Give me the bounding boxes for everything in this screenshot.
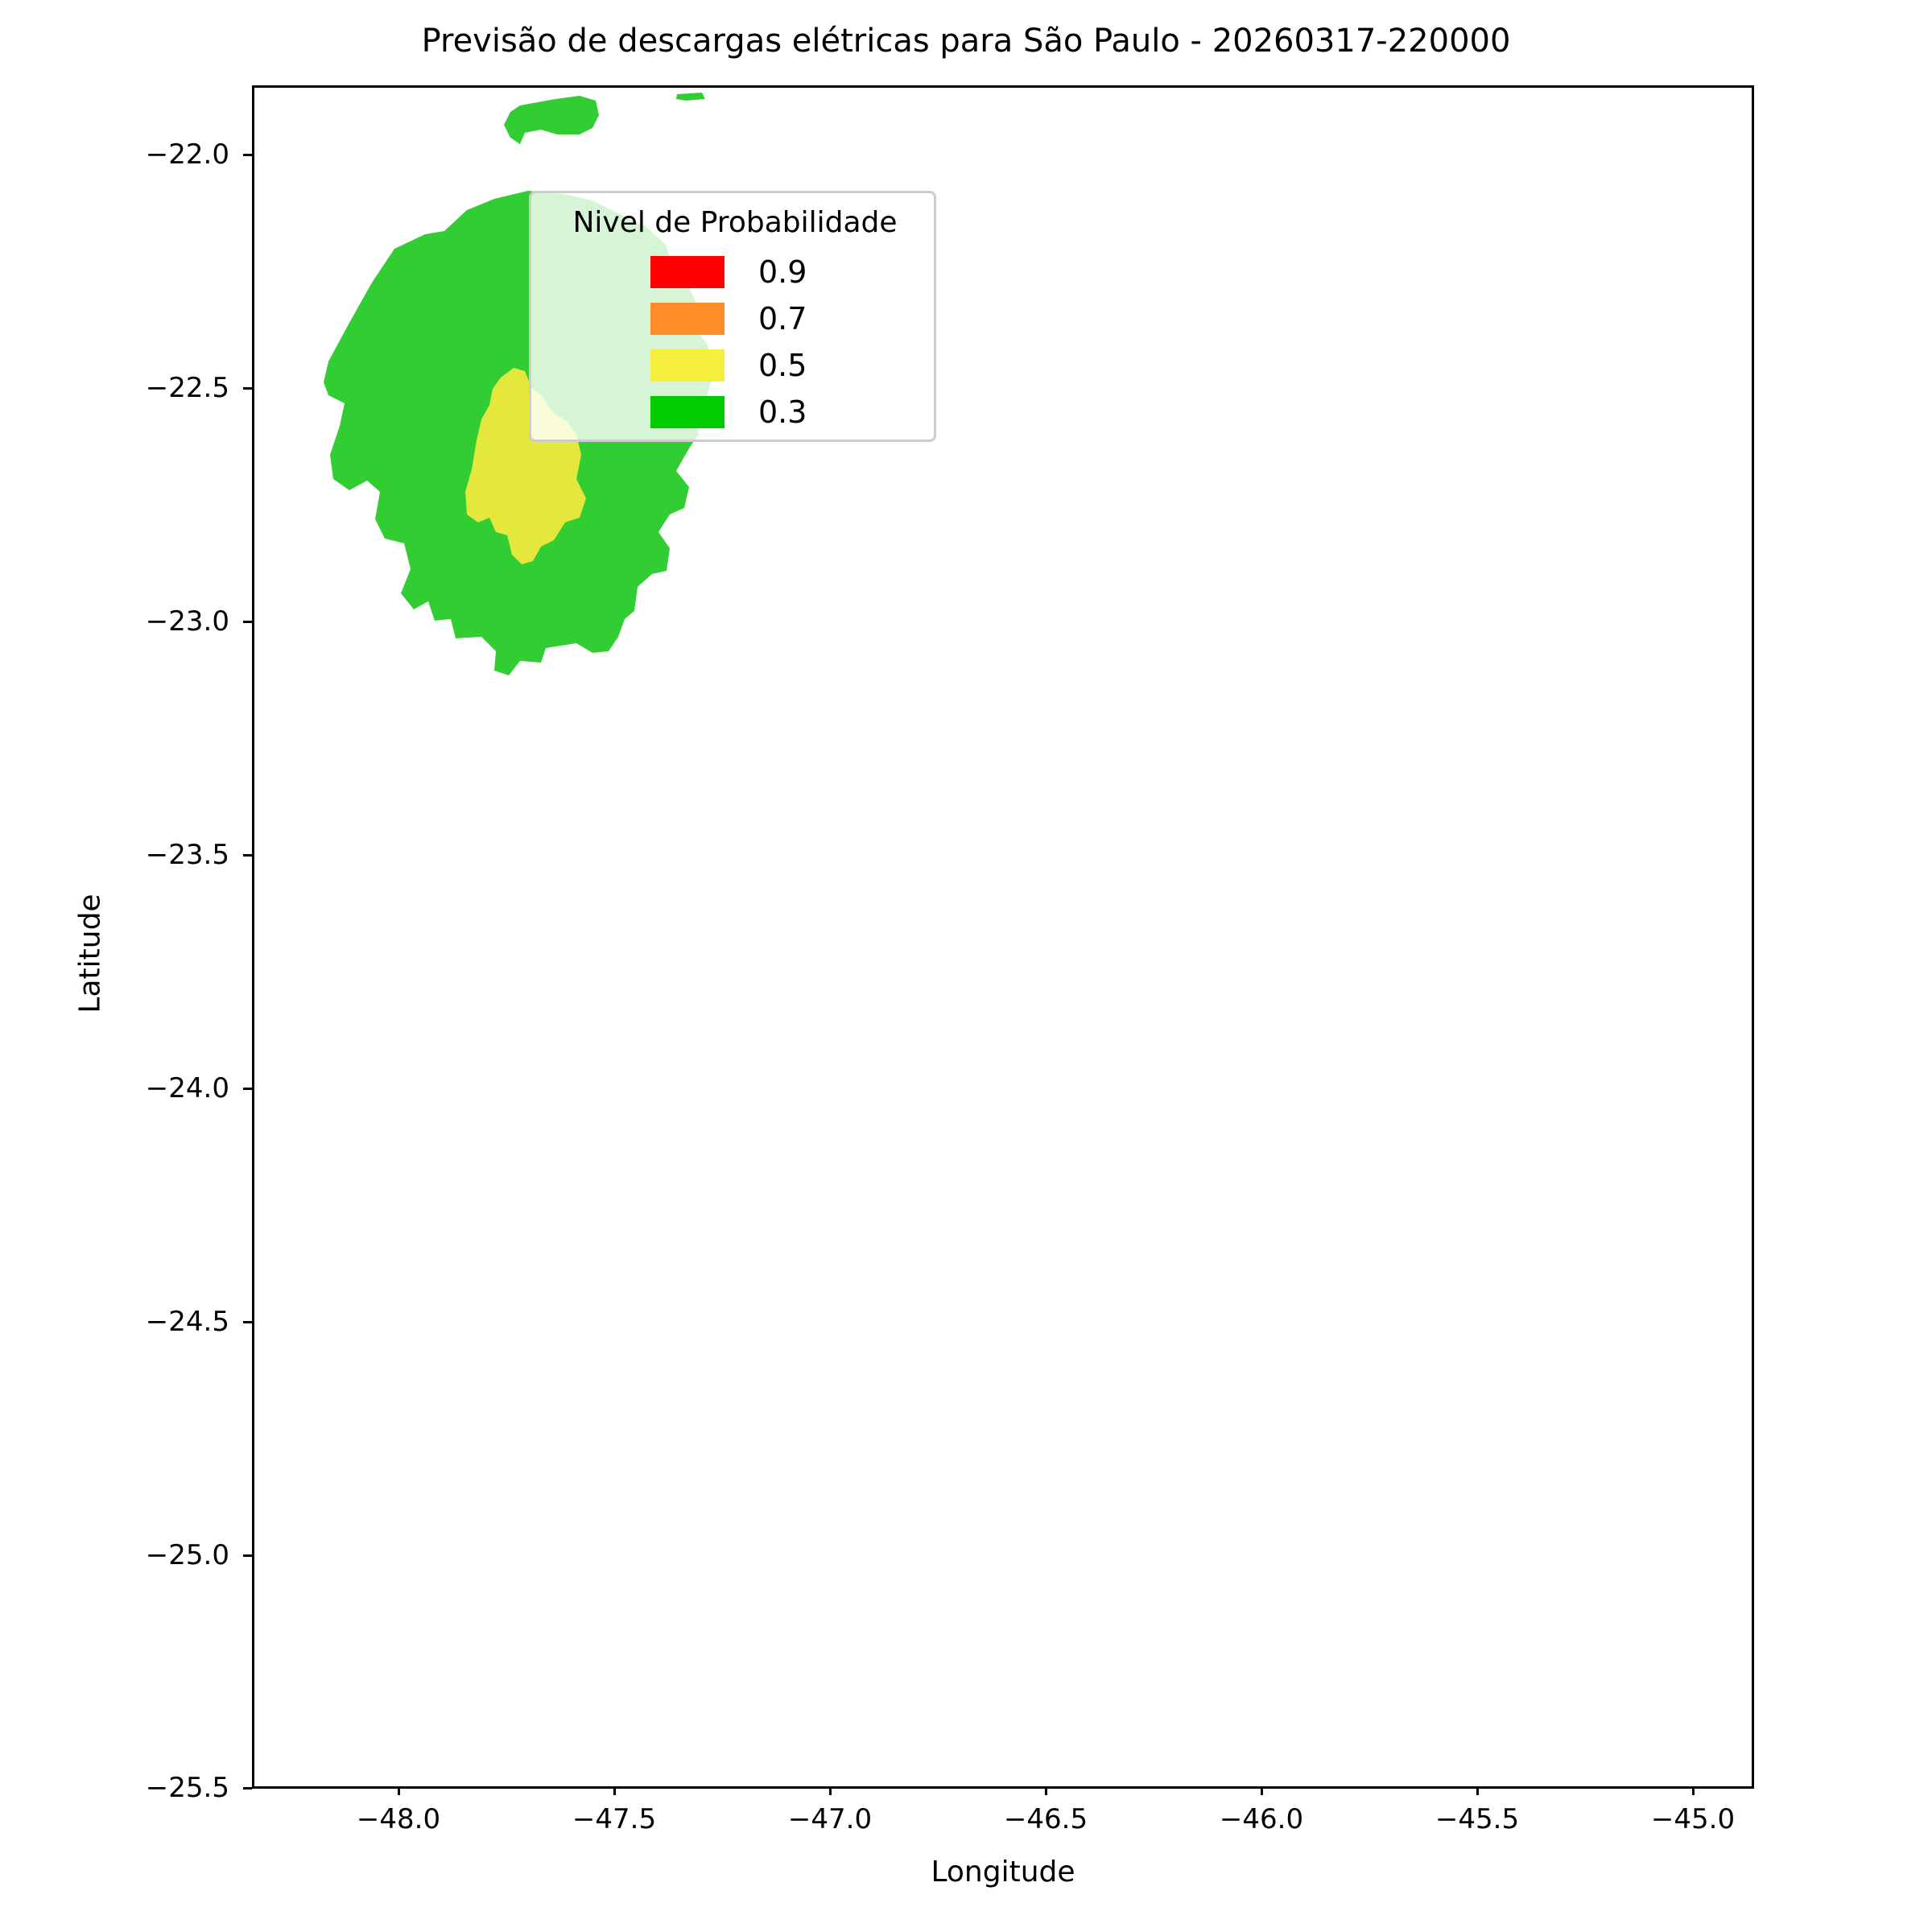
legend-box[interactable]: Nivel de Probabilidade 0.9 0.7 0.5 0.3 bbox=[529, 191, 936, 442]
y-axis-title: Latitude bbox=[74, 793, 107, 1115]
x-tick-mark bbox=[613, 1786, 616, 1795]
legend-swatch-yellow bbox=[650, 349, 724, 382]
y-tick-label: −22.0 bbox=[146, 138, 229, 171]
page-title: Previsão de descargas elétricas para São… bbox=[0, 23, 1932, 60]
x-axis-title: Longitude bbox=[252, 1856, 1754, 1889]
y-tick-mark bbox=[243, 1088, 252, 1090]
y-tick-label: −23.0 bbox=[146, 605, 229, 638]
x-tick-mark bbox=[1261, 1786, 1263, 1795]
x-tick-label: −48.0 bbox=[357, 1803, 440, 1835]
y-tick-label: −24.0 bbox=[146, 1072, 229, 1104]
y-tick-mark bbox=[243, 1321, 252, 1323]
y-tick-mark bbox=[243, 1554, 252, 1557]
legend-item-0.3[interactable]: 0.3 bbox=[650, 391, 924, 433]
x-tick-label: −47.0 bbox=[788, 1803, 872, 1835]
contour-region-0.3-sliver-a bbox=[504, 96, 599, 144]
y-tick-mark bbox=[243, 1787, 252, 1790]
x-tick-mark bbox=[1476, 1786, 1479, 1795]
map-svg bbox=[254, 88, 1754, 1789]
y-tick-label: −24.5 bbox=[146, 1306, 229, 1338]
x-tick-label: −47.5 bbox=[572, 1803, 656, 1835]
x-tick-mark bbox=[1045, 1786, 1047, 1795]
legend-swatch-green bbox=[650, 396, 724, 428]
y-tick-mark bbox=[243, 621, 252, 623]
contour-region-0.3-sliver-b bbox=[676, 93, 705, 101]
y-tick-label: −25.0 bbox=[146, 1539, 229, 1571]
y-tick-label: −22.5 bbox=[146, 372, 229, 404]
legend-item-0.5[interactable]: 0.5 bbox=[650, 345, 924, 386]
x-tick-label: −45.0 bbox=[1651, 1803, 1735, 1835]
y-tick-label: −25.5 bbox=[146, 1772, 229, 1804]
legend-swatch-red bbox=[650, 256, 724, 288]
legend-item-0.9[interactable]: 0.9 bbox=[650, 251, 924, 293]
legend-label-0.5: 0.5 bbox=[758, 350, 807, 381]
legend-title: Nivel de Probabilidade bbox=[531, 206, 939, 239]
legend-label-0.7: 0.7 bbox=[758, 303, 807, 334]
x-tick-label: −46.5 bbox=[1004, 1803, 1088, 1835]
y-tick-label: −23.5 bbox=[146, 839, 229, 871]
legend-label-0.3: 0.3 bbox=[758, 397, 807, 427]
y-tick-mark bbox=[243, 387, 252, 390]
legend-swatch-orange bbox=[650, 303, 724, 335]
x-tick-mark bbox=[398, 1786, 400, 1795]
legend-label-0.9: 0.9 bbox=[758, 257, 807, 287]
x-tick-label: −46.0 bbox=[1220, 1803, 1303, 1835]
x-tick-mark bbox=[829, 1786, 832, 1795]
x-tick-label: −45.5 bbox=[1435, 1803, 1519, 1835]
x-tick-mark bbox=[1692, 1786, 1695, 1795]
y-tick-mark bbox=[243, 854, 252, 857]
map-plot-area[interactable]: Nivel de Probabilidade 0.9 0.7 0.5 0.3 bbox=[252, 85, 1754, 1789]
legend-item-0.7[interactable]: 0.7 bbox=[650, 298, 924, 340]
y-tick-mark bbox=[243, 154, 252, 156]
figure-canvas: Previsão de descargas elétricas para São… bbox=[0, 0, 1932, 1932]
